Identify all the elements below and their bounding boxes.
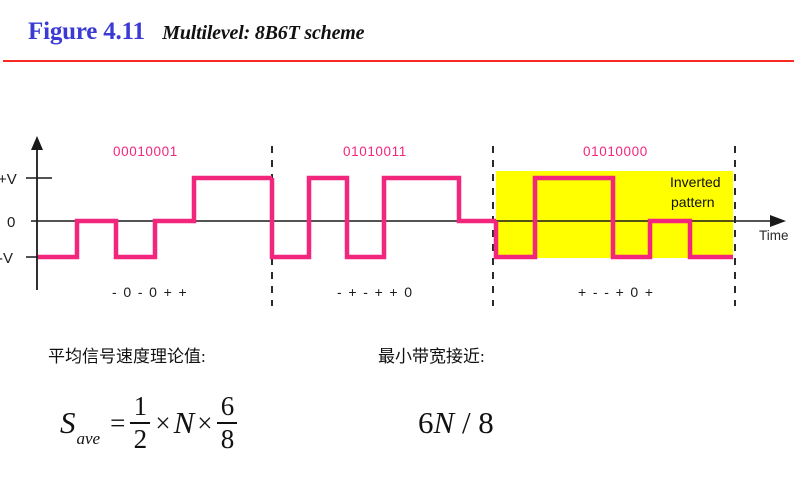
figure-caption: Multilevel: 8B6T scheme [162, 22, 364, 44]
formula-right-expression: 6N / 8 [418, 405, 494, 441]
formula-left-fraction-six-eighths: 6 8 [217, 393, 237, 453]
formula-right-variable-n: N [434, 405, 455, 440]
formula-left-subscript: ave [77, 429, 101, 449]
formula-left-variable-n: N [174, 405, 195, 441]
title-divider-rule [3, 60, 794, 62]
formula-left: 平均信号速度理论值: S ave = 1 2 × N × 6 8 [48, 342, 239, 453]
formula-left-symbol: S [60, 405, 76, 441]
formula-left-fraction-half: 1 2 [130, 393, 150, 453]
signal-waveform-chart: +V 0 -V 00010001 01010011 01010000 - 0 -… [0, 130, 797, 315]
inverted-pattern-note-line1: Inverted [670, 174, 721, 190]
axis-label-plus-v: +V [0, 171, 17, 188]
formula-left-frac2-numerator: 6 [218, 393, 238, 420]
formula-right-suffix: / 8 [454, 405, 494, 440]
waveform-block-1 [38, 178, 272, 257]
formula-left-expression: S ave = 1 2 × N × 6 8 [60, 393, 239, 453]
formula-right: 最小带宽接近: 6N / 8 [378, 342, 494, 441]
axis-label-zero: 0 [7, 214, 15, 231]
waveform-block-2 [272, 178, 496, 257]
formula-left-caption: 平均信号速度理论值: [48, 342, 239, 367]
formula-right-caption: 最小带宽接近: [378, 342, 494, 367]
ternary-label-block-1: - 0 - 0 + + [112, 284, 188, 300]
formula-left-frac1-numerator: 1 [131, 393, 151, 420]
formula-left-frac1-denominator: 2 [131, 426, 151, 453]
formula-right-coefficient: 6 [418, 405, 434, 440]
binary-label-block-3: 01010000 [583, 144, 648, 159]
binary-label-block-1: 00010001 [113, 144, 178, 159]
figure-header: Figure 4.11 Multilevel: 8B6T scheme [0, 0, 797, 62]
formula-left-equals: = [110, 408, 125, 439]
formula-left-times-1: × [155, 408, 170, 439]
title-row: Figure 4.11 Multilevel: 8B6T scheme [28, 18, 364, 46]
ternary-label-block-3: + - - + 0 + [578, 284, 655, 300]
formula-left-times-2: × [197, 408, 212, 439]
ternary-label-block-2: - + - + + 0 [337, 284, 414, 300]
axis-label-minus-v: -V [0, 250, 13, 267]
inverted-pattern-note-line2: pattern [671, 194, 715, 210]
time-axis-label: Time [759, 228, 789, 243]
figure-number: Figure 4.11 [28, 18, 145, 45]
binary-label-block-2: 01010011 [343, 144, 407, 159]
amplitude-axis [26, 136, 52, 290]
formula-left-frac2-denominator: 8 [218, 426, 238, 453]
